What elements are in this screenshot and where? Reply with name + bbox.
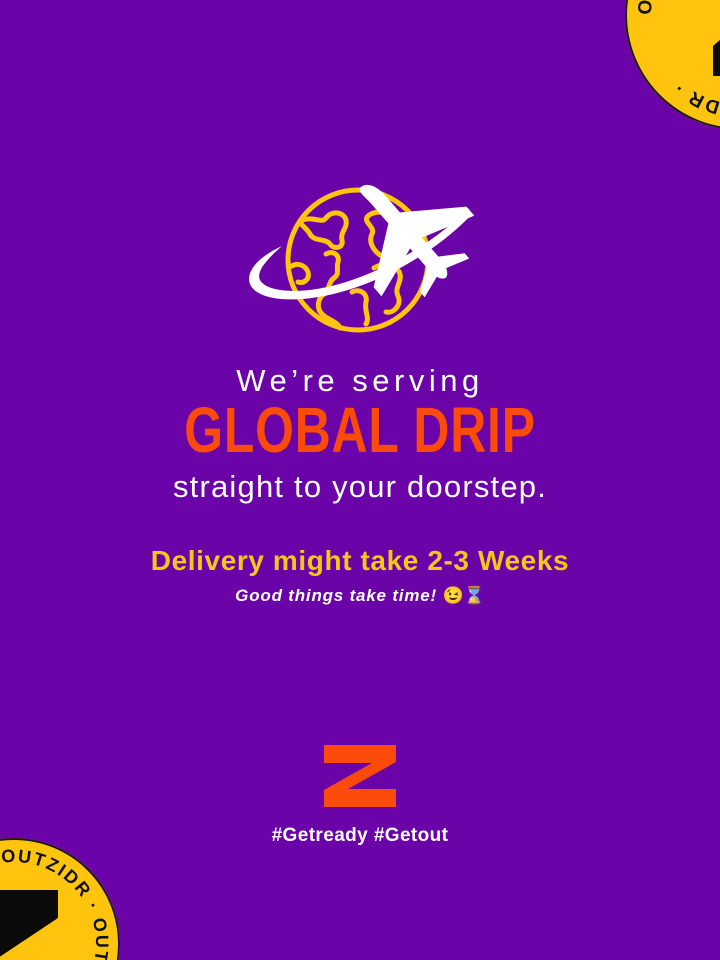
globe-plane-emblem: [240, 172, 480, 342]
brand-z-logo-mark: [320, 745, 400, 807]
badge-top-right: OUTZIDR · OUTZIDR · OUTZIDR · OUTZIDR ·: [625, 0, 720, 130]
footer-brand-block: #Getready #Getout: [0, 745, 720, 847]
copy-block: We’re serving GLOBAL DRIP straight to yo…: [0, 364, 720, 606]
headline-text: GLOBAL DRIP: [79, 400, 641, 461]
wink-hourglass-emoji: 😉⌛: [442, 586, 484, 605]
delivery-estimate-text: Delivery might take 2-3 Weeks: [0, 545, 720, 577]
hashtags-text: #Getready #Getout: [0, 825, 720, 847]
badge-bottom-left: OUTZIDR · OUTZIDR · OUTZIDR · OUTZIDR · …: [0, 838, 120, 960]
reassurance-note-text: Good things take time!: [235, 586, 437, 605]
reassurance-note: Good things take time! 😉⌛: [0, 586, 720, 606]
subline-text: straight to your doorstep.: [0, 469, 720, 505]
kicker-text: We’re serving: [0, 364, 720, 397]
promo-poster: OUTZIDR · OUTZIDR · OUTZIDR · OUTZIDR · …: [0, 0, 720, 960]
